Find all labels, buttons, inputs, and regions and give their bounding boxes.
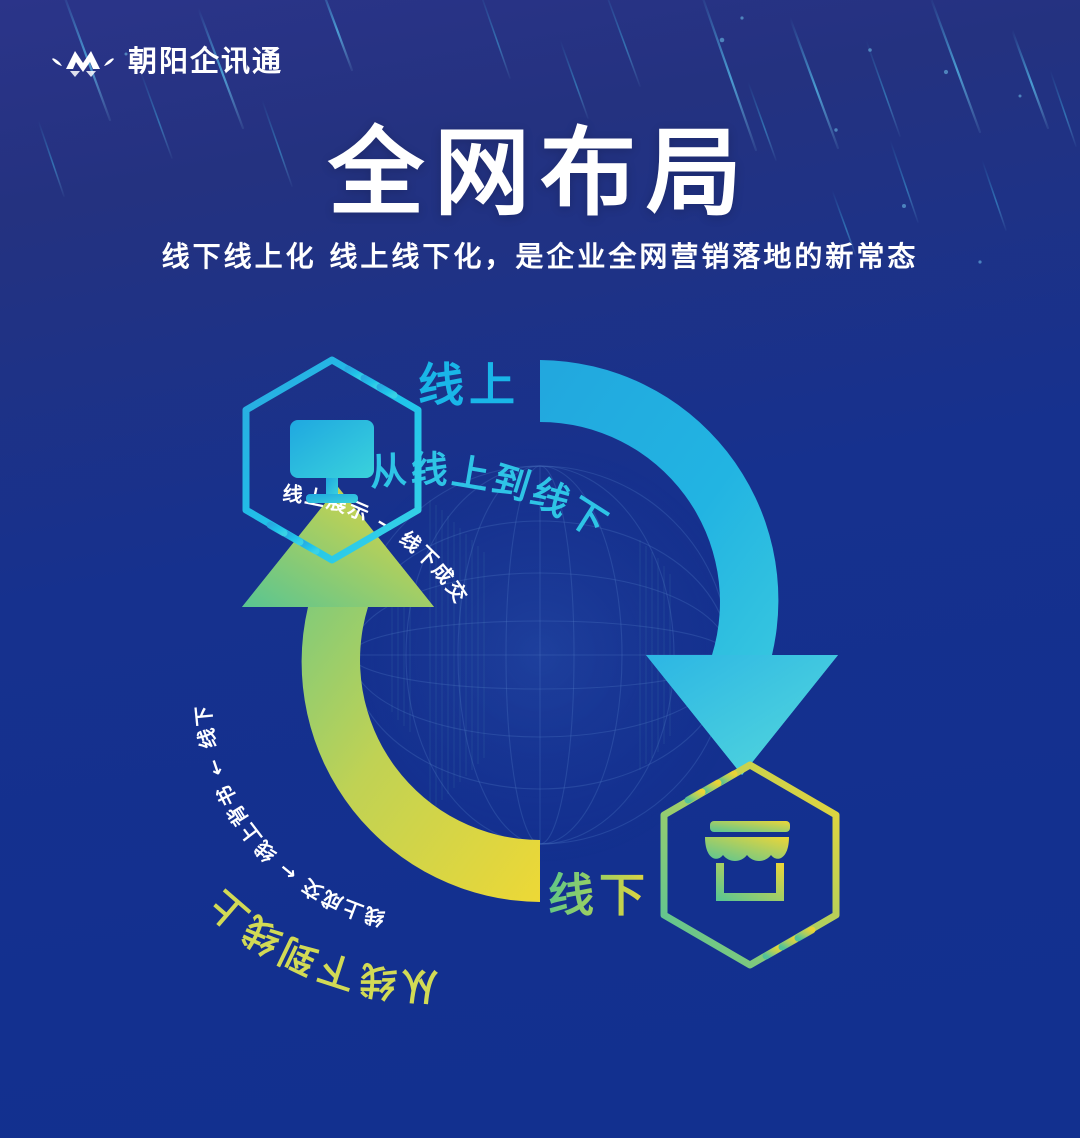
flow-offline-to-online-outer-label: 从线下到线上 bbox=[199, 880, 439, 1008]
poster-canvas: 朝阳企讯通 全网布局 线下线上化 线上线下化，是企业全网营销落地的新常态 bbox=[0, 0, 1080, 1138]
node-offline-label: 线下 bbox=[548, 872, 650, 918]
flow-online-to-offline bbox=[540, 360, 838, 775]
title-block: 全网布局 线下线上化 线上线下化，是企业全网营销落地的新常态 bbox=[0, 122, 1080, 273]
page-subtitle: 线下线上化 线上线下化，是企业全网营销落地的新常态 bbox=[0, 240, 1080, 274]
storefront-shop-icon bbox=[705, 821, 790, 901]
mountain-peaks-icon bbox=[52, 44, 114, 78]
cycle-diagram: 从线上到线下 线上展示 → 线下成交 从线下到线上 线上成交 ← 线上背书 ← … bbox=[0, 300, 1080, 1060]
flow-offline-to-online bbox=[242, 487, 540, 902]
flow-online-to-offline-outer-label: 从线上到线下 bbox=[367, 448, 616, 548]
hexagon-hatch-offline bbox=[688, 774, 812, 956]
brand-name: 朝阳企讯通 bbox=[128, 47, 283, 76]
page-title: 全网布局 bbox=[0, 122, 1080, 226]
node-offline[interactable] bbox=[664, 765, 836, 965]
brand-logo: 朝阳企讯通 bbox=[52, 44, 283, 78]
node-online-label: 线上 bbox=[418, 362, 520, 408]
